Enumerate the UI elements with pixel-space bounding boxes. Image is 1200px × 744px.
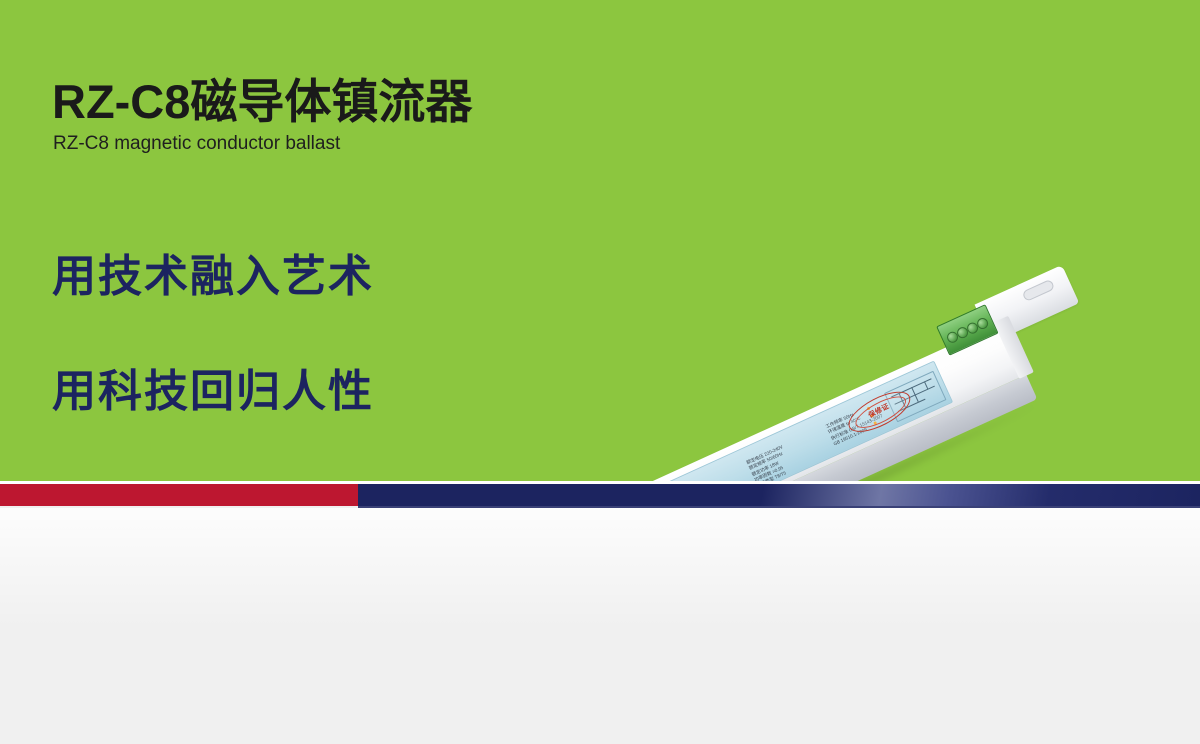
accent-divider-band	[0, 481, 1200, 508]
slogan-line-1: 用技术融入艺术	[52, 240, 374, 304]
divider-navy-segment	[358, 484, 1200, 506]
divider-red-segment	[0, 484, 358, 506]
slogan-line-2: 用科技回归人性	[52, 355, 374, 419]
product-banner: RZ-C8磁导体镇流器 RZ-C8 magnetic conductor bal…	[0, 0, 1200, 744]
page-title: RZ-C8磁导体镇流器	[52, 63, 472, 132]
bottom-background-panel	[0, 508, 1200, 744]
page-subtitle: RZ-C8 magnetic conductor ballast	[53, 133, 340, 155]
